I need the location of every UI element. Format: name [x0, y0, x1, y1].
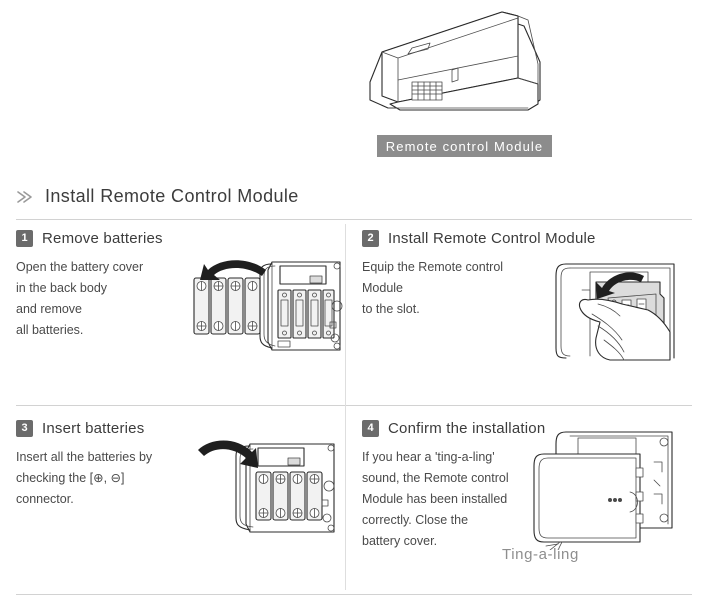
step-3-line-3: connector. — [16, 489, 192, 510]
step-4-line-4: correctly. Close the — [362, 510, 532, 531]
divider-top — [16, 219, 692, 220]
step-1-title: Remove batteries — [42, 230, 163, 247]
step-4-illustration — [522, 418, 694, 550]
step-4-description: If you hear a 'ting-a-ling' sound, the R… — [362, 447, 532, 552]
step-card-3: 3 Insert batteries Insert all the batter… — [16, 418, 346, 598]
step-1-line-3: and remove — [16, 299, 192, 320]
step-1-line-1: Open the battery cover — [16, 257, 192, 278]
step-4-line-1: If you hear a 'ting-a-ling' — [362, 447, 532, 468]
hero-illustration-area: Remote control Module — [0, 0, 708, 170]
step-2-description: Equip the Remote control Module to the s… — [362, 257, 538, 320]
page-title: Install Remote Control Module — [45, 186, 299, 207]
product-name-banner: Remote control Module — [377, 135, 552, 157]
step-3-description: Insert all the batteries by checking the… — [16, 447, 192, 510]
remote-control-module-illustration — [352, 4, 562, 132]
step-1-header: 1 Remove batteries — [16, 228, 346, 248]
double-chevron-right-icon — [16, 189, 36, 205]
step-3-illustration — [192, 430, 344, 542]
step-1-description: Open the battery cover in the back body … — [16, 257, 192, 341]
step-2-header: 2 Install Remote Control Module — [362, 228, 692, 248]
step-card-1: 1 Remove batteries Open the battery cove… — [16, 228, 346, 408]
step-4-badge: 4 — [362, 420, 379, 437]
step-1-line-4: all batteries. — [16, 320, 192, 341]
step-3-badge: 3 — [16, 420, 33, 437]
section-header: Install Remote Control Module — [16, 186, 299, 207]
step-2-badge: 2 — [362, 230, 379, 247]
step-1-illustration — [192, 256, 344, 356]
step-card-4: 4 Confirm the installation If you hear a… — [362, 418, 692, 598]
step-3-title: Insert batteries — [42, 420, 144, 437]
step-1-line-2: in the back body — [16, 278, 192, 299]
step-1-badge: 1 — [16, 230, 33, 247]
step-2-illustration — [552, 258, 698, 362]
sound-effect-label: Ting-a-ling — [502, 546, 579, 563]
step-2-line-1: Equip the Remote control Module — [362, 257, 538, 299]
step-3-line-1: Insert all the batteries by — [16, 447, 192, 468]
step-4-line-3: Module has been installed — [362, 489, 532, 510]
step-4-line-2: sound, the Remote control — [362, 468, 532, 489]
step-2-line-2: to the slot. — [362, 299, 538, 320]
step-3-line-2: checking the [⊕, ⊖] — [16, 468, 192, 489]
step-card-2: 2 Install Remote Control Module Equip th… — [362, 228, 692, 408]
step-2-title: Install Remote Control Module — [388, 230, 596, 247]
